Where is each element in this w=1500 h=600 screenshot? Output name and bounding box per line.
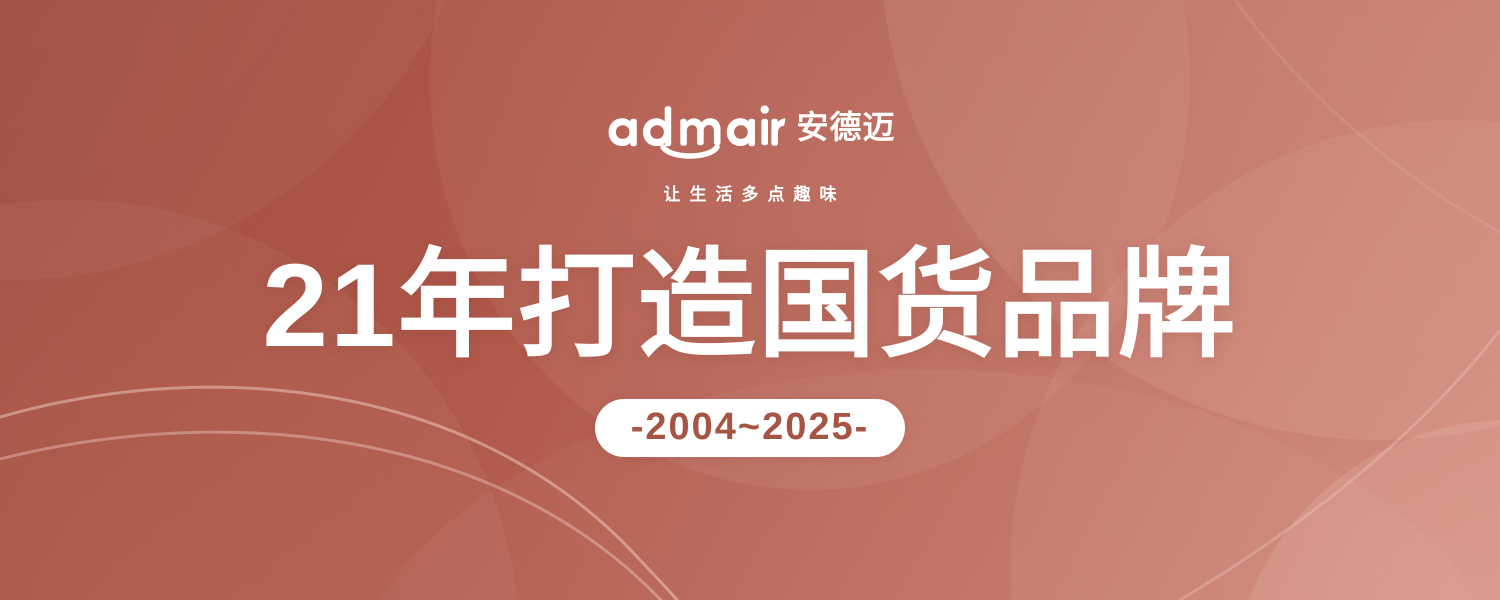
admair-wordmark — [604, 104, 786, 160]
promo-banner: 安德迈 让生活多点趣味 21年打造国货品牌 -2004~2025- — [0, 0, 1500, 600]
date-range-badge: -2004~2025- — [595, 399, 906, 457]
headline: 21年打造国货品牌 — [262, 247, 1237, 365]
brand-tagline: 让生活多点趣味 — [655, 186, 846, 203]
banner-content: 安德迈 让生活多点趣味 21年打造国货品牌 -2004~2025- — [0, 0, 1500, 600]
brand-name-cn: 安德迈 — [796, 111, 895, 143]
smile-curve-icon — [660, 144, 720, 162]
brand-logo: 安德迈 — [604, 104, 895, 160]
